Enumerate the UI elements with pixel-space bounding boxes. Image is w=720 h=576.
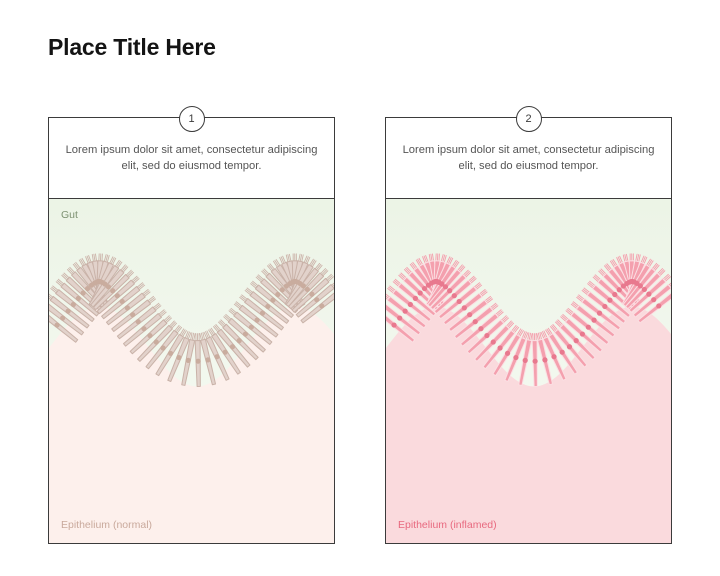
diagram-page: Place Title Here 1 Lorem ipsum dolor sit… bbox=[0, 0, 720, 576]
epithelium-figure-normal: Gut Epithelium (normal) bbox=[49, 199, 334, 543]
panel-badge-1: 1 bbox=[179, 106, 205, 132]
panel-1[interactable]: 1 Lorem ipsum dolor sit amet, consectetu… bbox=[48, 117, 335, 544]
epithelium-figure-inflamed: Epithelium (inflamed) bbox=[386, 199, 671, 543]
epithelium-illustration-inflamed bbox=[386, 199, 671, 543]
panel-badge-2: 2 bbox=[516, 106, 542, 132]
panel-caption-text-1: Lorem ipsum dolor sit amet, consectetur … bbox=[63, 142, 320, 174]
panel-container: 1 Lorem ipsum dolor sit amet, consectetu… bbox=[48, 117, 672, 545]
page-title: Place Title Here bbox=[48, 34, 216, 61]
panel-2[interactable]: 2 Lorem ipsum dolor sit amet, consectetu… bbox=[385, 117, 672, 544]
epithelium-illustration-normal bbox=[49, 199, 334, 543]
panel-caption-text-2: Lorem ipsum dolor sit amet, consectetur … bbox=[400, 142, 657, 174]
